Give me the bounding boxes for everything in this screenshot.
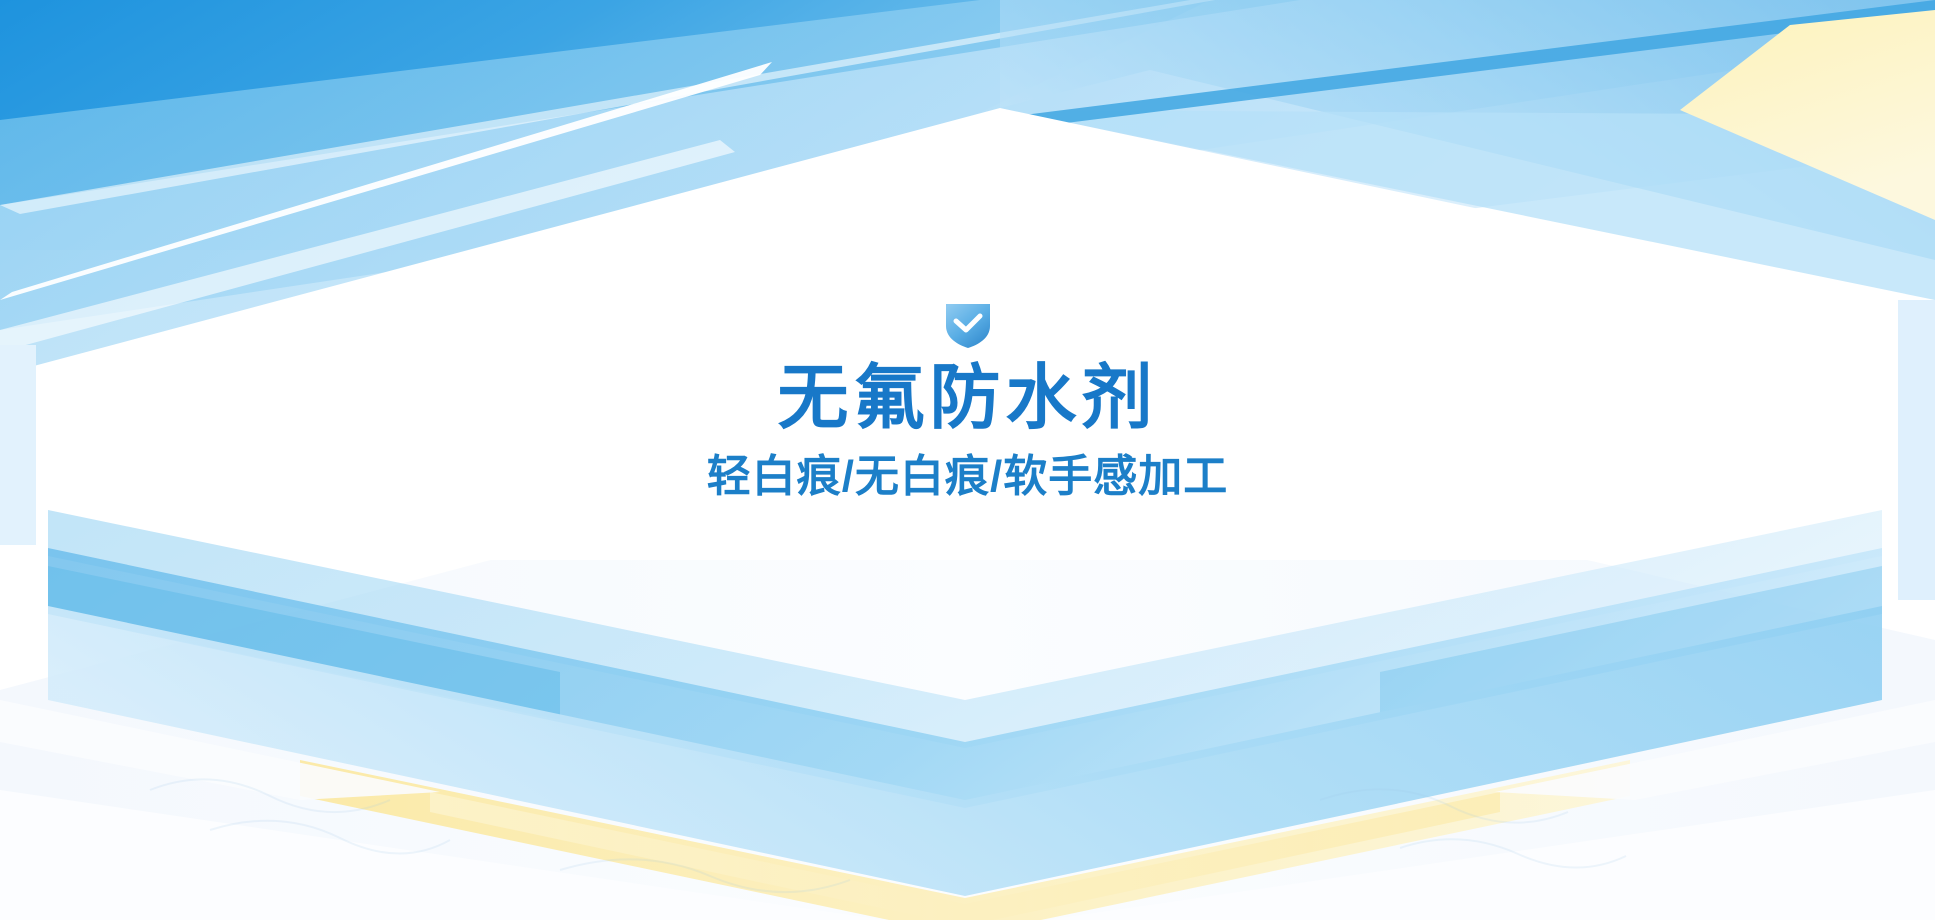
- page-title: 无氟防水剂: [777, 362, 1157, 437]
- page-subtitle: 轻白痕/无白痕/软手感加工: [707, 453, 1228, 501]
- hero-banner: 无氟防水剂 轻白痕/无白痕/软手感加工: [0, 0, 1935, 920]
- shield-check-icon: [940, 296, 996, 352]
- left-vertical-pale-strip: [0, 345, 36, 545]
- right-vertical-pale-strip: [1898, 300, 1935, 600]
